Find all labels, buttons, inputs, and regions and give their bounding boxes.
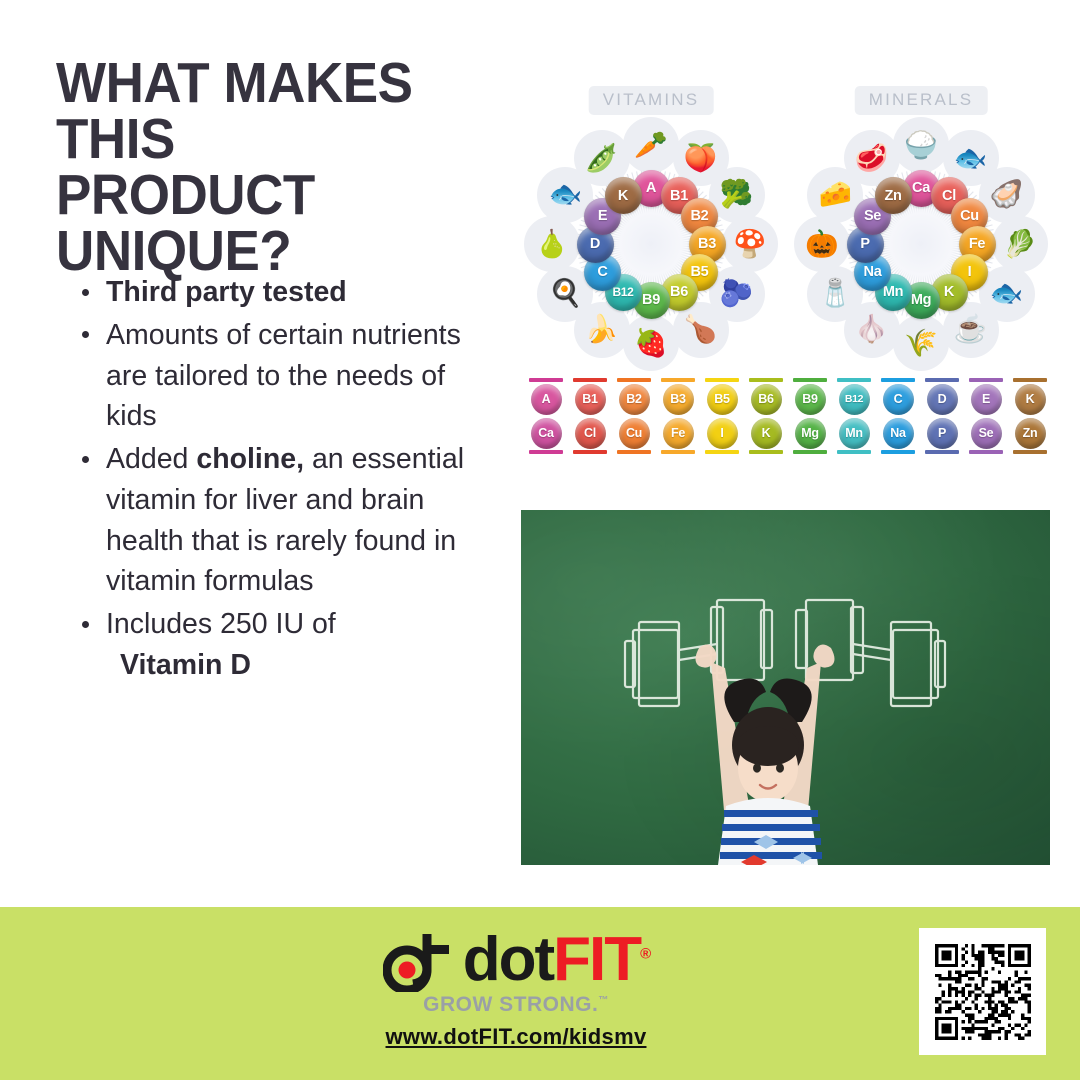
strip-bar-bottom [573,450,607,454]
nutrient-wheels: VITAMINS 🥕A🍑B1🥦B2🍄B3🫐B5🍗B6🍓B9🍌B12🍳C🍐D🐟E🫛… [520,86,1060,386]
strip-pill-mineral: Ca [531,418,562,449]
strip-bar-top [617,378,651,382]
strip-column-b2: B2Cu [616,378,652,454]
nutrient-pill-k: K [605,177,642,214]
food-icon: 🥕 [623,117,679,173]
strip-column-c: CNa [880,378,916,454]
food-icon: 🥬 [992,216,1048,272]
wordmark-dot: dot [463,925,553,994]
strip-bar-bottom [617,450,651,454]
website-url[interactable]: www.dotFIT.com/kidsmv [316,1024,716,1050]
footer-band: dotFIT® GROW STRONG.™ www.dotFIT.com/kid… [0,907,1080,1080]
strip-pill-vitamin: D [927,384,958,415]
strip-bar-bottom [661,450,695,454]
strip-pill-vitamin: K [1015,384,1046,415]
strip-bar-bottom [837,450,871,454]
strip-bar-top [573,378,607,382]
strip-pill-mineral: Fe [663,418,694,449]
strip-column-b9: B9Mg [792,378,828,454]
strip-pill-vitamin: C [883,384,914,415]
minerals-title-badge: MINERALS [855,86,988,115]
strip-pill-mineral: P [927,418,958,449]
chalk-barbell-and-child-illustration [521,510,1050,865]
list-item-bold: Third party tested [106,276,347,308]
qr-code-icon[interactable] [935,944,1031,1040]
strip-bar-bottom [793,450,827,454]
strip-pill-mineral: Se [971,418,1002,449]
list-item: Includes 250 IU of Vitamin D [74,604,484,686]
strip-pill-mineral: Cu [619,418,650,449]
strip-pill-vitamin: B6 [751,384,782,415]
strip-pill-mineral: Cl [575,418,606,449]
strip-bar-top [969,378,1003,382]
strip-column-b1: B1Cl [572,378,608,454]
strip-pill-vitamin: E [971,384,1002,415]
bullet-dot-icon [82,289,89,296]
list-item-text-before: Added [106,443,196,475]
page-title: WHAT MAKES THIS PRODUCT UNIQUE? [56,56,493,279]
vitamins-wheel-graphic: 🥕A🍑B1🥦B2🍄B3🫐B5🍗B6🍓B9🍌B12🍳C🍐D🐟E🫛K [531,124,771,364]
strip-pill-vitamin: A [531,384,562,415]
strip-pill-mineral: K [751,418,782,449]
poster-canvas: WHAT MAKES THIS PRODUCT UNIQUE? Third pa… [0,0,1080,1080]
food-icon: 🍚 [893,117,949,173]
list-item-bold: choline, [196,443,304,475]
dotfit-mark-icon [383,928,453,992]
nutrient-pill-zn: Zn [875,177,912,214]
list-item-subline: Vitamin D [106,645,484,686]
strip-bar-bottom [705,450,739,454]
strip-column-a: ACa [528,378,564,454]
strip-bar-top [837,378,871,382]
minerals-wheel-graphic: 🍚Ca🐟Cl🦪Cu🥬Fe🐟I☕K🌾Mg🧄Mn🧂Na🎃P🧀Se🥩Zn [801,124,1041,364]
trademark-mark: ™ [598,995,609,1006]
list-item-text: Includes 250 IU of [106,608,336,640]
strip-pill-vitamin: B3 [663,384,694,415]
strip-bar-bottom [969,450,1003,454]
strip-bar-bottom [1013,450,1047,454]
minerals-wheel: MINERALS 🍚Ca🐟Cl🦪Cu🥬Fe🐟I☕K🌾Mg🧄Mn🧂Na🎃P🧀Se🥩… [796,86,1046,386]
wheel-center-glow [881,204,961,284]
strip-pill-mineral: Na [883,418,914,449]
tagline: GROW STRONG.™ [316,993,716,1017]
strip-bar-bottom [529,450,563,454]
strip-pill-vitamin: B9 [795,384,826,415]
vitamins-wheel: VITAMINS 🥕A🍑B1🥦B2🍄B3🫐B5🍗B6🍓B9🍌B12🍳C🍐D🐟E🫛… [526,86,776,386]
strip-column-k: KZn [1012,378,1048,454]
strip-bar-top [749,378,783,382]
strip-bar-top [1013,378,1047,382]
strip-column-b12: B12Mn [836,378,872,454]
strip-column-b6: B6K [748,378,784,454]
brand-lockup: dotFIT® GROW STRONG.™ www.dotFIT.com/kid… [316,923,716,1050]
benefits-list: Third party tested Amounts of certain nu… [74,272,484,688]
tagline-text: GROW STRONG. [423,993,598,1016]
bullet-dot-icon [82,331,89,338]
strip-bar-top [661,378,695,382]
wordmark-fit: FIT [553,925,640,994]
strip-bar-bottom [749,450,783,454]
food-icon: 🌾 [893,315,949,371]
bullet-dot-icon [82,621,89,628]
strip-bar-top [793,378,827,382]
food-icon: 🎃 [794,216,850,272]
hero-photo [521,510,1050,865]
food-icon: 🍓 [623,315,679,371]
registered-mark: ® [640,945,649,962]
list-item: Added choline, an essential vitamin for … [74,439,484,602]
strip-pill-vitamin: B2 [619,384,650,415]
strip-bar-top [705,378,739,382]
headline-line-2: PRODUCT UNIQUE? [56,168,493,280]
strip-column-b5: B5I [704,378,740,454]
strip-pill-vitamin: B5 [707,384,738,415]
strip-column-e: ESe [968,378,1004,454]
list-item-text: Amounts of certain nutrients are tailore… [106,319,461,433]
strip-pill-vitamin: B12 [839,384,870,415]
headline-line-1: WHAT MAKES THIS [56,51,413,171]
logo-row: dotFIT® [316,923,716,997]
strip-bar-bottom [925,450,959,454]
strip-bar-bottom [881,450,915,454]
strip-pill-vitamin: B1 [575,384,606,415]
bullet-dot-icon [82,456,89,463]
strip-pill-mineral: Mg [795,418,826,449]
wheel-center-glow [611,204,691,284]
strip-column-d: DP [924,378,960,454]
strip-bar-top [925,378,959,382]
strip-column-b3: B3Fe [660,378,696,454]
strip-pill-mineral: I [707,418,738,449]
vitamins-title-badge: VITAMINS [589,86,714,115]
food-icon: 🍄 [722,216,778,272]
strip-bar-top [881,378,915,382]
wordmark: dotFIT® [463,929,649,991]
strip-pill-mineral: Mn [839,418,870,449]
qr-code-panel[interactable] [919,928,1046,1055]
list-item: Amounts of certain nutrients are tailore… [74,315,484,437]
nutrient-badge-strip: ACaB1ClB2CuB3FeB5IB6KB9MgB12MnCNaDPESeKZ… [528,378,1048,454]
strip-bar-top [529,378,563,382]
food-icon: 🍐 [524,216,580,272]
strip-pill-mineral: Zn [1015,418,1046,449]
list-item: Third party tested [74,272,484,313]
